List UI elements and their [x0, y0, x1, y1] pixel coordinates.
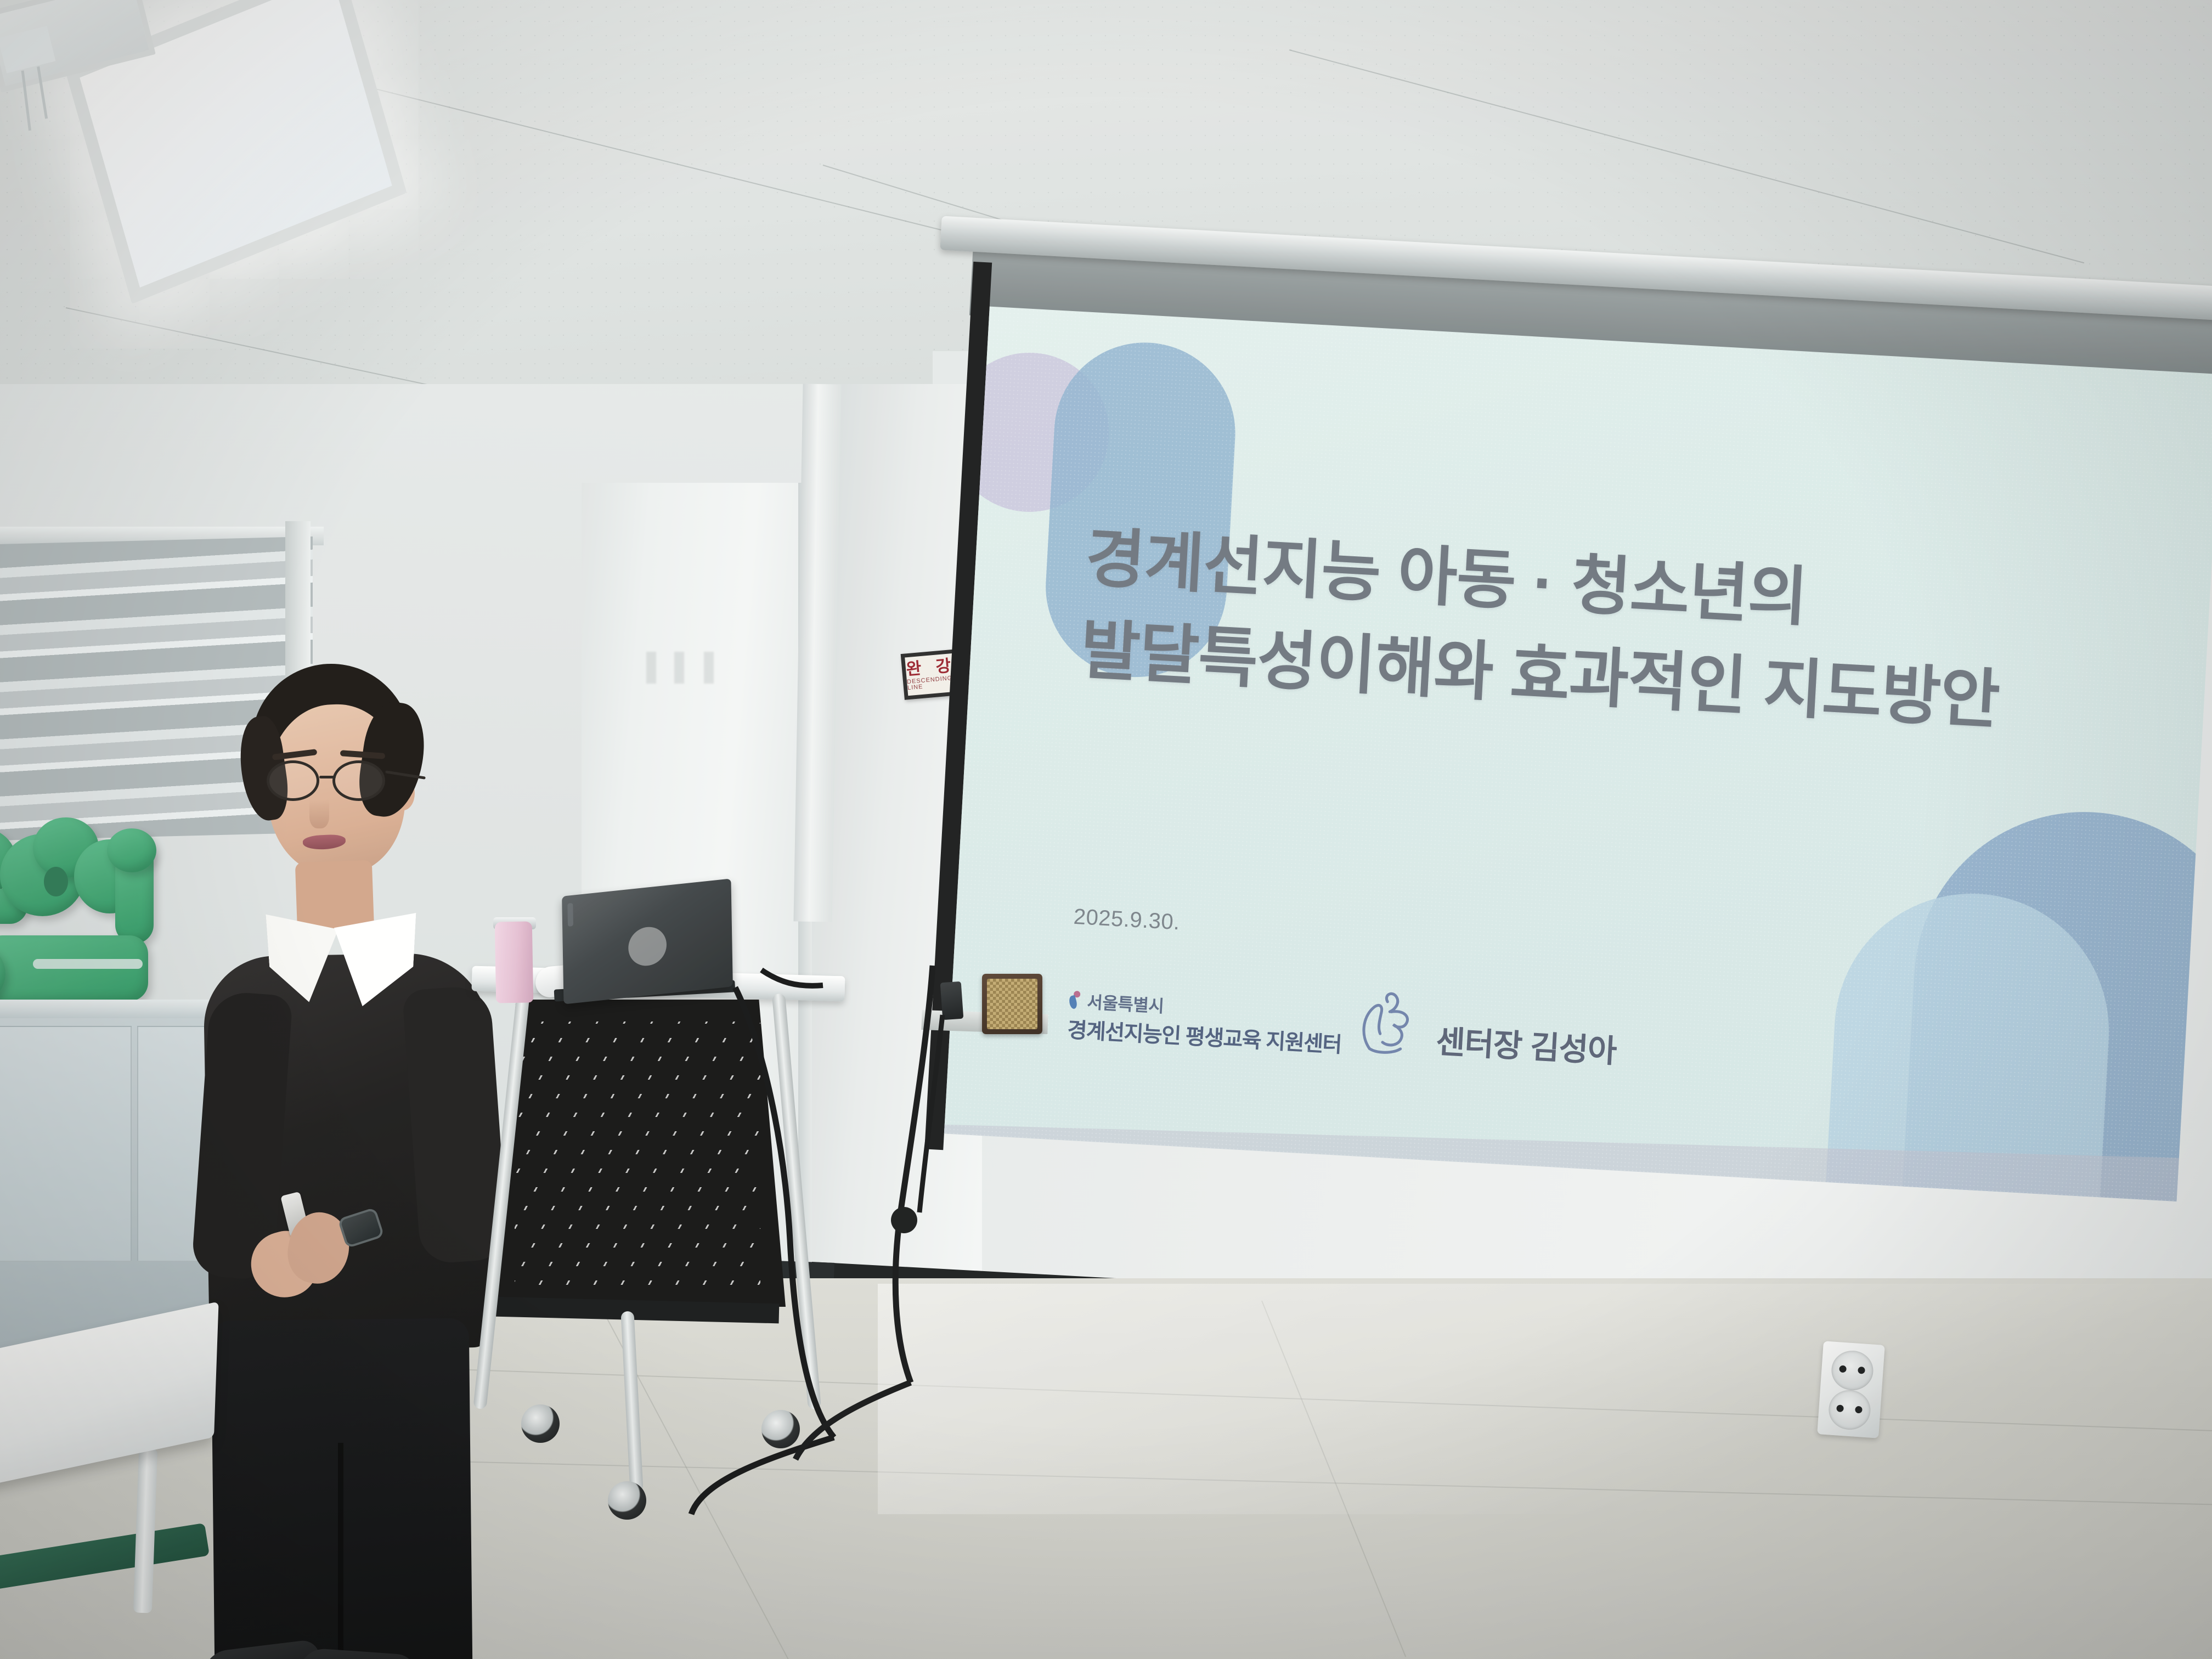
av-cart[interactable]	[461, 971, 856, 1531]
projection-screen: 경계선지능 아동 · 청소년의 발달특성이해와 효과적인 지도방안 2025.9…	[949, 285, 2212, 1360]
organization-city: 서울특별시	[1086, 988, 1164, 1017]
green-letter-part	[107, 828, 156, 872]
desktop-speaker	[982, 974, 1042, 1034]
green-letter-slot	[33, 959, 143, 969]
presenter-nose	[309, 800, 329, 828]
cart-caster	[761, 1410, 800, 1448]
seoul-logo-icon	[1069, 990, 1084, 1009]
cart-leg	[620, 1311, 643, 1493]
cart-leg	[772, 993, 821, 1409]
cart-caster	[608, 1481, 646, 1520]
cart-perforated-panel	[489, 1000, 786, 1307]
laptop-sticker-icon	[628, 925, 667, 968]
cart-perforation-pattern	[515, 1022, 760, 1285]
presenter-leg-seam	[338, 1443, 343, 1659]
hand-heart-logo-icon	[1352, 986, 1427, 1060]
power-outlet[interactable]	[1817, 1341, 1885, 1438]
outlet-socket[interactable]	[1827, 1389, 1872, 1431]
slide-presenter-name: 센터장 김성아	[1435, 1015, 1618, 1074]
wall-smudge	[646, 652, 729, 684]
lecture-room-photo: 완 강 기 DESCENDING LIFE LINE 경계선지능 아동 · 청소…	[0, 0, 2212, 1659]
projected-slide: 경계선지능 아동 · 청소년의 발달특성이해와 효과적인 지도방안 2025.9…	[944, 307, 2212, 1201]
glasses-lens	[332, 760, 385, 801]
laptop[interactable]	[562, 878, 733, 1004]
presenter-glasses-icon	[263, 760, 416, 801]
cart-caster	[521, 1404, 560, 1443]
fixture-bulb	[0, 26, 55, 73]
outlet-socket[interactable]	[1830, 1350, 1875, 1392]
power-adapter	[940, 981, 964, 1020]
glasses-lens	[267, 760, 319, 801]
speaker-grille-icon	[987, 979, 1037, 1029]
pink-tumbler[interactable]	[495, 921, 534, 1003]
glasses-bridge	[319, 776, 336, 778]
cabinet-door[interactable]	[0, 1026, 132, 1262]
green-letter-hole	[44, 867, 68, 896]
